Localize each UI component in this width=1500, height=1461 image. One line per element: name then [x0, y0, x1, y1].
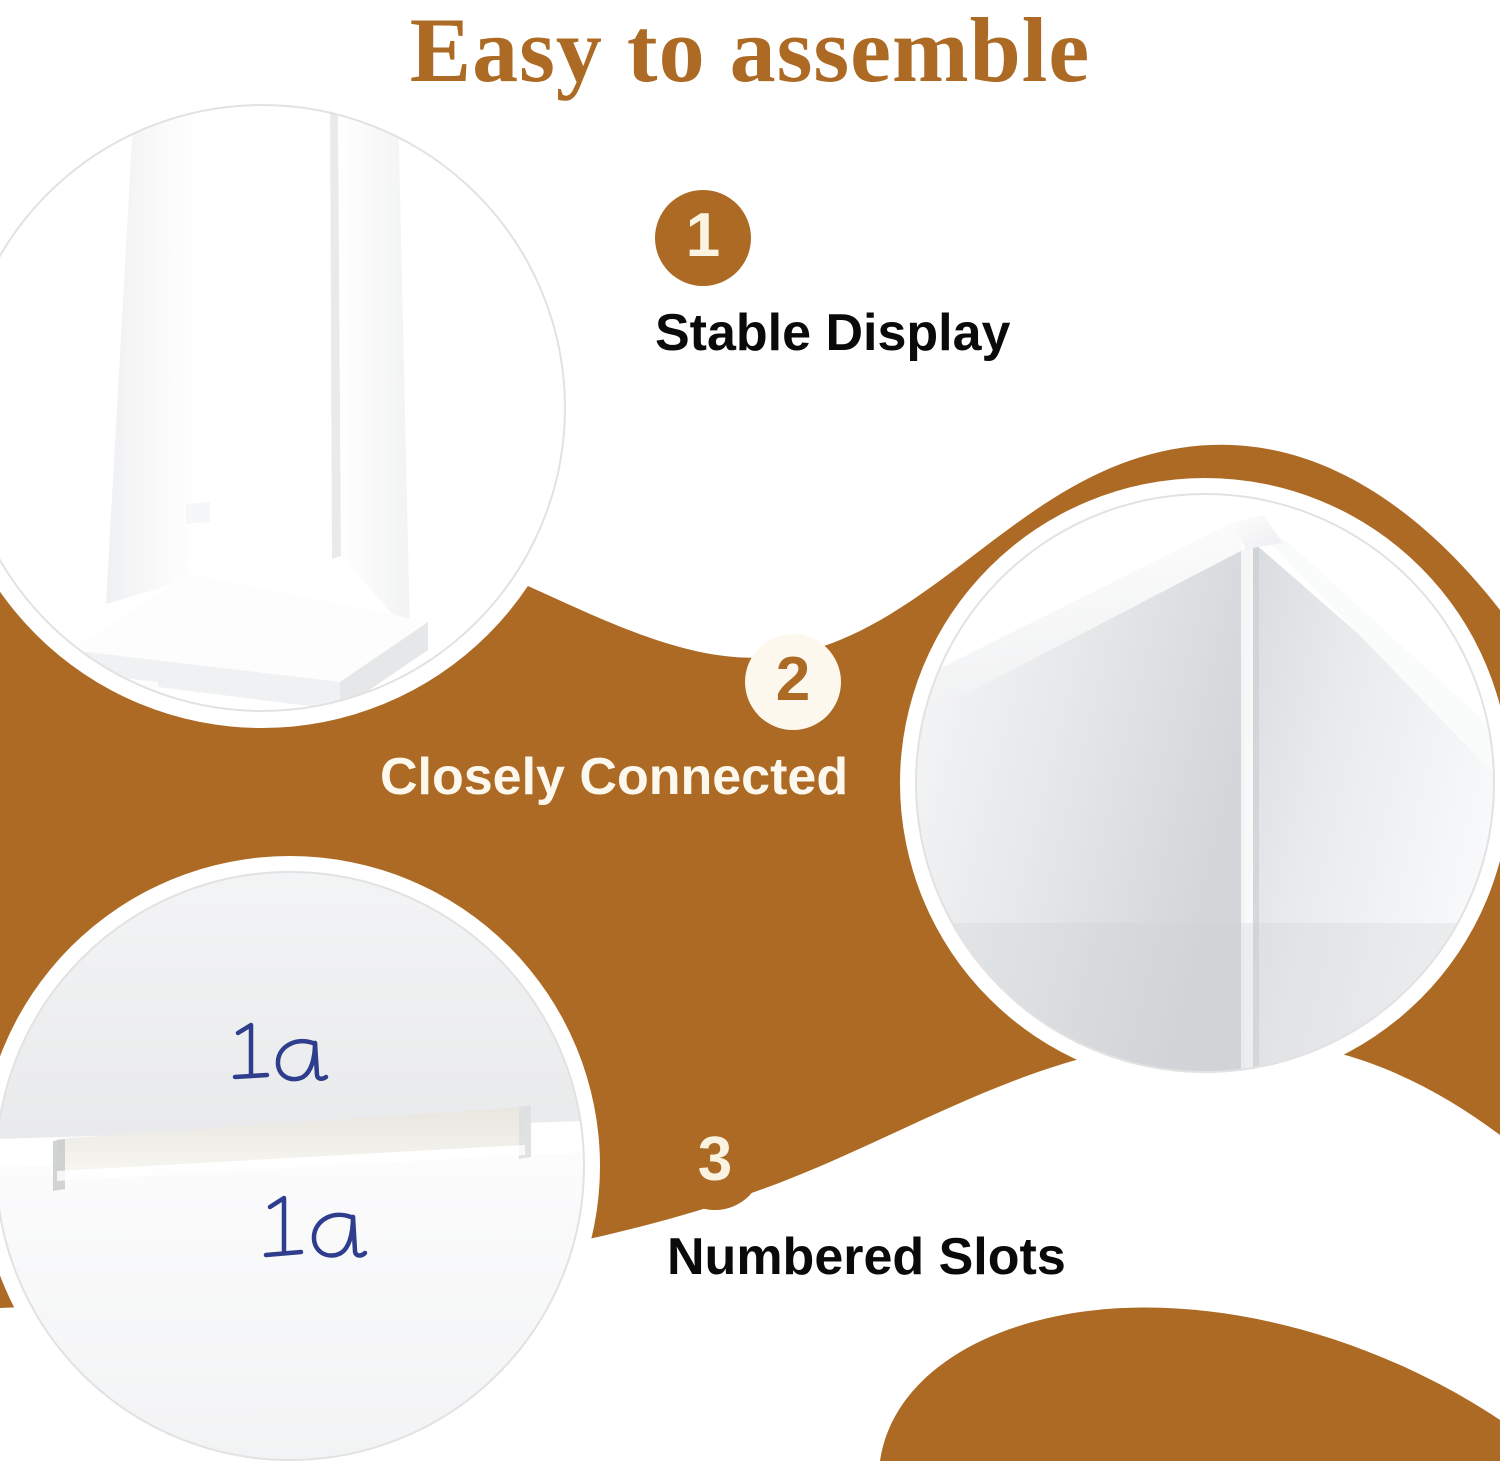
page-title: Easy to assemble	[0, 2, 1500, 98]
step-badge-2-number: 2	[776, 649, 810, 711]
closely-connected-photo	[915, 493, 1495, 1073]
step-badge-2: 2	[745, 634, 841, 730]
step-badge-1: 1	[655, 190, 751, 286]
step-badge-1-number: 1	[686, 205, 720, 267]
feature-label-closely-connected: Closely Connected	[380, 748, 848, 806]
infographic-canvas: Easy to assemble	[0, 0, 1500, 1461]
feature-label-numbered-slots: Numbered Slots	[667, 1228, 1066, 1286]
step-badge-3: 3	[667, 1114, 763, 1210]
step-badge-3-number: 3	[698, 1129, 732, 1191]
feature-label-stable-display: Stable Display	[655, 304, 1010, 362]
numbered-slots-photo	[0, 871, 585, 1461]
